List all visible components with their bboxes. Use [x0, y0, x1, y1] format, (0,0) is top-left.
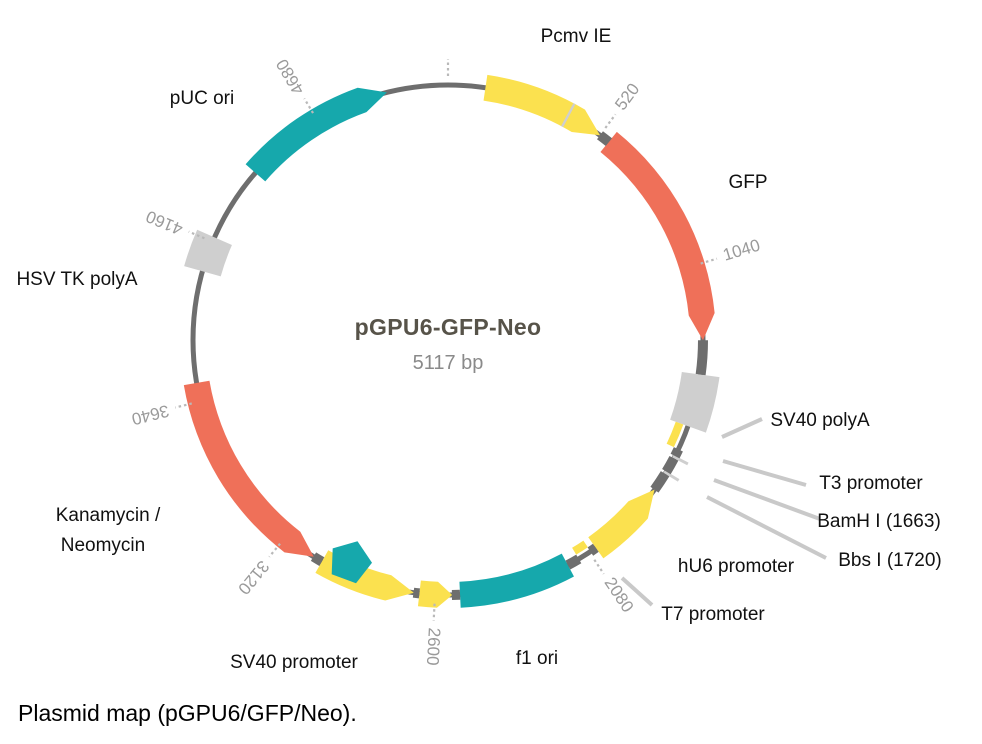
feature-puc-ori[interactable] — [246, 88, 387, 182]
tick-label-520: 520 — [611, 80, 643, 114]
page-title: pGPU6-GFP-Neo — [355, 314, 542, 340]
tick-label-2080: 2080 — [601, 574, 638, 616]
feature-arcs — [184, 75, 720, 608]
feature-f1-ori[interactable] — [459, 554, 574, 608]
hu6-promoter-label: hU6 promoter — [678, 556, 795, 577]
tick-mark-520 — [605, 114, 615, 128]
feature-kan-neo[interactable] — [184, 381, 314, 557]
feature-gfp[interactable] — [600, 132, 714, 340]
bamhi-label: BamH I (1663) — [817, 511, 941, 532]
backbone-stub-1 — [696, 340, 708, 375]
sv40-promoter-label: SV40 promoter — [230, 652, 358, 673]
feature-hsv-tk-polya[interactable] — [184, 230, 232, 277]
sv40-polya-label: SV40 polyA — [770, 410, 870, 431]
tick-mark-2080 — [594, 560, 603, 574]
feature-pcmv-ie[interactable] — [484, 75, 600, 135]
t7-promoter-label: T7 promoter — [661, 604, 765, 625]
tick-label-4680: 4680 — [272, 56, 308, 98]
backbone-stub-8 — [413, 588, 420, 599]
leader-t3 — [723, 461, 806, 485]
tick-label-1040: 1040 — [721, 236, 763, 265]
feature-hu6-promoter[interactable] — [588, 490, 654, 559]
t3-promoter-label: T3 promoter — [819, 473, 923, 494]
caption-text: Plasmid map (pGPU6/GFP/Neo). — [18, 700, 357, 726]
plasmid-size-label: 5117 bp — [413, 352, 484, 374]
feature-unnamed-arrow[interactable] — [418, 580, 452, 607]
kan-neo-label-1: Kanamycin / — [56, 505, 161, 526]
leader-lines — [622, 419, 826, 605]
tick-label-3120: 3120 — [234, 557, 273, 598]
tick-label-3640: 3640 — [130, 401, 171, 429]
leader-bbsi — [707, 497, 826, 558]
gfp-label: GFP — [728, 172, 767, 193]
pcmv-ie-label: Pcmv IE — [541, 26, 612, 47]
backbone-stub-7 — [452, 590, 460, 600]
puc-ori-label: pUC ori — [170, 88, 234, 109]
f1-ori-label: f1 ori — [516, 648, 558, 669]
plasmid-map-svg: 5201040208026003120364041604680 pUC oriP… — [0, 0, 982, 744]
kan-neo-label-2: Neomycin — [61, 535, 145, 556]
bbsi-label: Bbs I (1720) — [838, 550, 942, 571]
tick-label-2600: 2600 — [423, 627, 444, 666]
figure-caption: Plasmid map (pGPU6/GFP/Neo). — [18, 700, 357, 727]
tick-label-4160: 4160 — [143, 207, 185, 239]
hsv-tk-polya-label: HSV TK polyA — [16, 269, 137, 290]
feature-labels: pUC oriPcmv IEGFPHSV TK polyAKanamycin /… — [16, 26, 941, 673]
leader-sv40-polya — [722, 419, 762, 437]
plasmid-map-figure: 5201040208026003120364041604680 pUC oriP… — [0, 0, 982, 744]
